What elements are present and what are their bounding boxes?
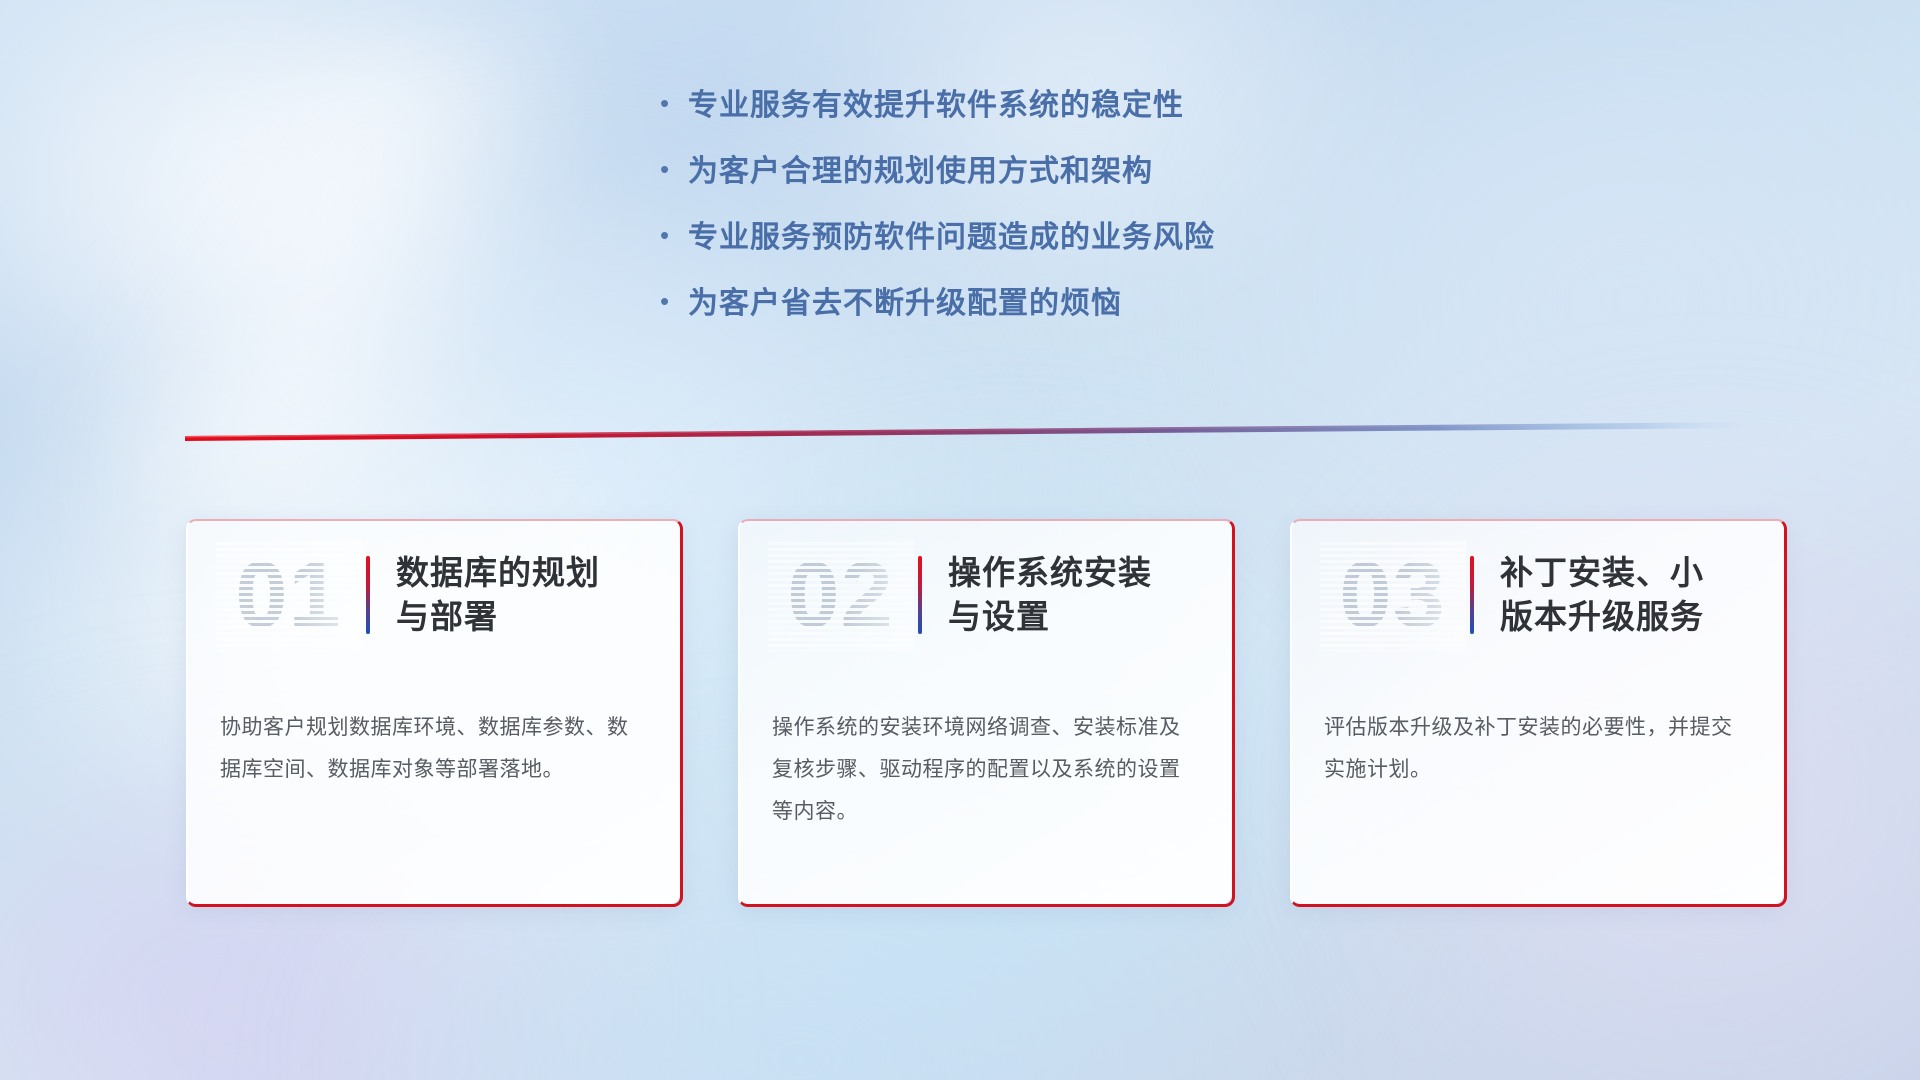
card-title: 数据库的规划 与部署 [396,551,600,638]
list-item: • 专业服务预防软件问题造成的业务风险 [660,220,1215,256]
card-accent-bar [1470,556,1474,634]
bullet-text: 为客户合理的规划使用方式和架构 [688,154,1153,190]
bullet-dot-icon: • [660,222,688,248]
card-accent-bar [366,556,370,634]
bullet-dot-icon: • [660,156,688,182]
benefits-bullet-list: • 专业服务有效提升软件系统的稳定性 • 为客户合理的规划使用方式和架构 • 专… [0,88,1920,322]
bullet-dot-icon: • [660,288,688,314]
card-number-text: 01 [236,543,342,648]
list-item: • 为客户省去不断升级配置的烦恼 [660,286,1122,322]
card-title: 操作系统安装 与设置 [948,551,1152,638]
service-card[interactable]: 02 操作系统安装 与设置 操作系统的安装环境网络调查、安装标准及复核步骤、驱动… [738,519,1232,904]
card-number-watermark: 01 [216,539,362,651]
divider-wedge-icon [185,420,1750,442]
service-card[interactable]: 03 补丁安装、小 版本升级服务 评估版本升级及补丁安装的必要性，并提交实施计划… [1290,519,1784,904]
bullet-dot-icon: • [660,90,688,116]
list-item: • 为客户合理的规划使用方式和架构 [660,154,1153,190]
list-item: • 专业服务有效提升软件系统的稳定性 [660,88,1184,124]
card-number-watermark: 03 [1320,539,1466,651]
section-divider [185,420,1750,442]
service-card[interactable]: 01 数据库的规划 与部署 协助客户规划数据库环境、数据库参数、数据库空间、数据… [186,519,680,904]
bullet-text: 专业服务有效提升软件系统的稳定性 [688,88,1184,124]
card-number-text: 02 [788,543,894,648]
card-title: 补丁安装、小 版本升级服务 [1500,551,1704,638]
card-description: 操作系统的安装环境网络调查、安装标准及复核步骤、驱动程序的配置以及系统的设置等内… [738,707,1232,833]
card-accent-bar [918,556,922,634]
card-description: 协助客户规划数据库环境、数据库参数、数据库空间、数据库对象等部署落地。 [186,707,680,791]
service-card-list: 01 数据库的规划 与部署 协助客户规划数据库环境、数据库参数、数据库空间、数据… [186,519,1786,919]
card-number-watermark: 02 [768,539,914,651]
card-header: 02 操作系统安装 与设置 [738,519,1232,671]
card-description: 评估版本升级及补丁安装的必要性，并提交实施计划。 [1290,707,1784,791]
bullet-text: 专业服务预防软件问题造成的业务风险 [688,220,1215,256]
card-header: 03 补丁安装、小 版本升级服务 [1290,519,1784,671]
card-header: 01 数据库的规划 与部署 [186,519,680,671]
bullet-text: 为客户省去不断升级配置的烦恼 [688,286,1122,322]
card-number-text: 03 [1340,543,1446,648]
